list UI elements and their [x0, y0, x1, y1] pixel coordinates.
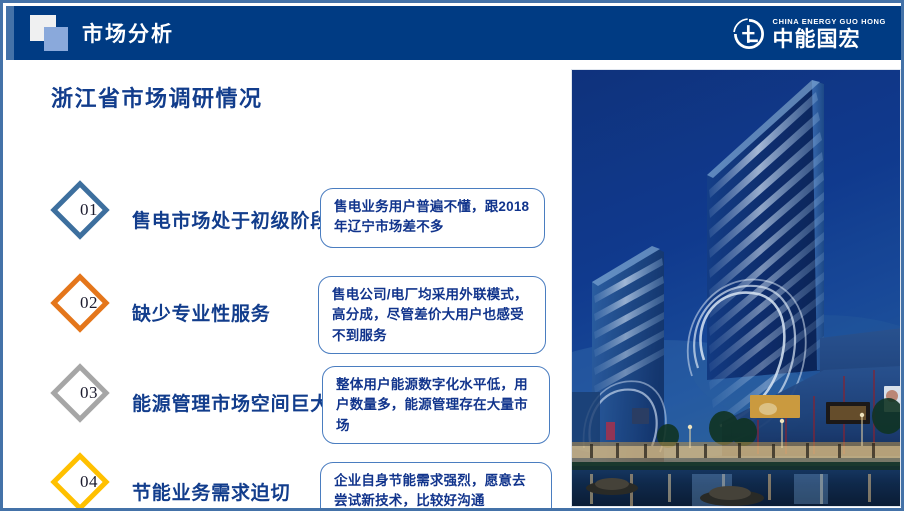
square-front-shape — [44, 27, 68, 51]
diamond-badge-02: 02 — [48, 280, 130, 344]
brand-text-block: CHINA ENERGY GUO HONG 中能国宏 — [773, 18, 886, 50]
header-accent-stripe — [6, 6, 14, 60]
blue-skyscraper-night-cityscape-photo — [571, 69, 901, 507]
diamond-number: 03 — [48, 370, 130, 416]
slide-root: 市场分析 CHINA ENERGY GUO HONG 中能国宏 浙江省市场调研情… — [0, 0, 904, 511]
guohong-circle-logo-icon — [732, 17, 766, 51]
diamond-number: 04 — [48, 459, 130, 505]
diamond-number: 01 — [48, 187, 130, 233]
left-content-column: 浙江省市场调研情况 01 售电市场处于初级阶段 售电业务用户普遍不懂，跟2018… — [6, 60, 563, 511]
item-label-04: 节能业务需求迫切 — [132, 478, 290, 505]
page-title: 市场分析 — [82, 18, 174, 48]
callout-box-01: 售电业务用户普遍不懂，跟2018年辽宁市场差不多 — [320, 188, 545, 248]
item-label-03: 能源管理市场空间巨大 — [132, 389, 330, 416]
photo-illustration — [572, 70, 901, 507]
diamond-badge-01: 01 — [48, 187, 130, 251]
header-bar: 市场分析 CHINA ENERGY GUO HONG 中能国宏 — [6, 6, 904, 60]
diamond-number: 02 — [48, 280, 130, 326]
brand-chinese-name: 中能国宏 — [773, 29, 886, 50]
callout-box-04: 企业自身节能需求强烈，愿意去尝试新技术，比较好沟通 — [320, 462, 552, 511]
brand-logo: CHINA ENERGY GUO HONG 中能国宏 — [732, 14, 886, 54]
callout-box-02: 售电公司/电厂均采用外联模式，高分成，尽管差价大用户也感受不到服务 — [318, 276, 546, 354]
item-label-01: 售电市场处于初级阶段 — [132, 206, 330, 233]
item-label-02: 缺少专业性服务 — [132, 299, 271, 326]
section-title: 浙江省市场调研情况 — [51, 81, 263, 113]
two-squares-icon — [30, 13, 76, 53]
brand-english-name: CHINA ENERGY GUO HONG — [773, 18, 886, 26]
diamond-badge-04: 04 — [48, 459, 130, 511]
diamond-badge-03: 03 — [48, 370, 130, 434]
callout-box-03: 整体用户能源数字化水平低，用户数量多，能源管理存在大量市场 — [322, 366, 550, 444]
